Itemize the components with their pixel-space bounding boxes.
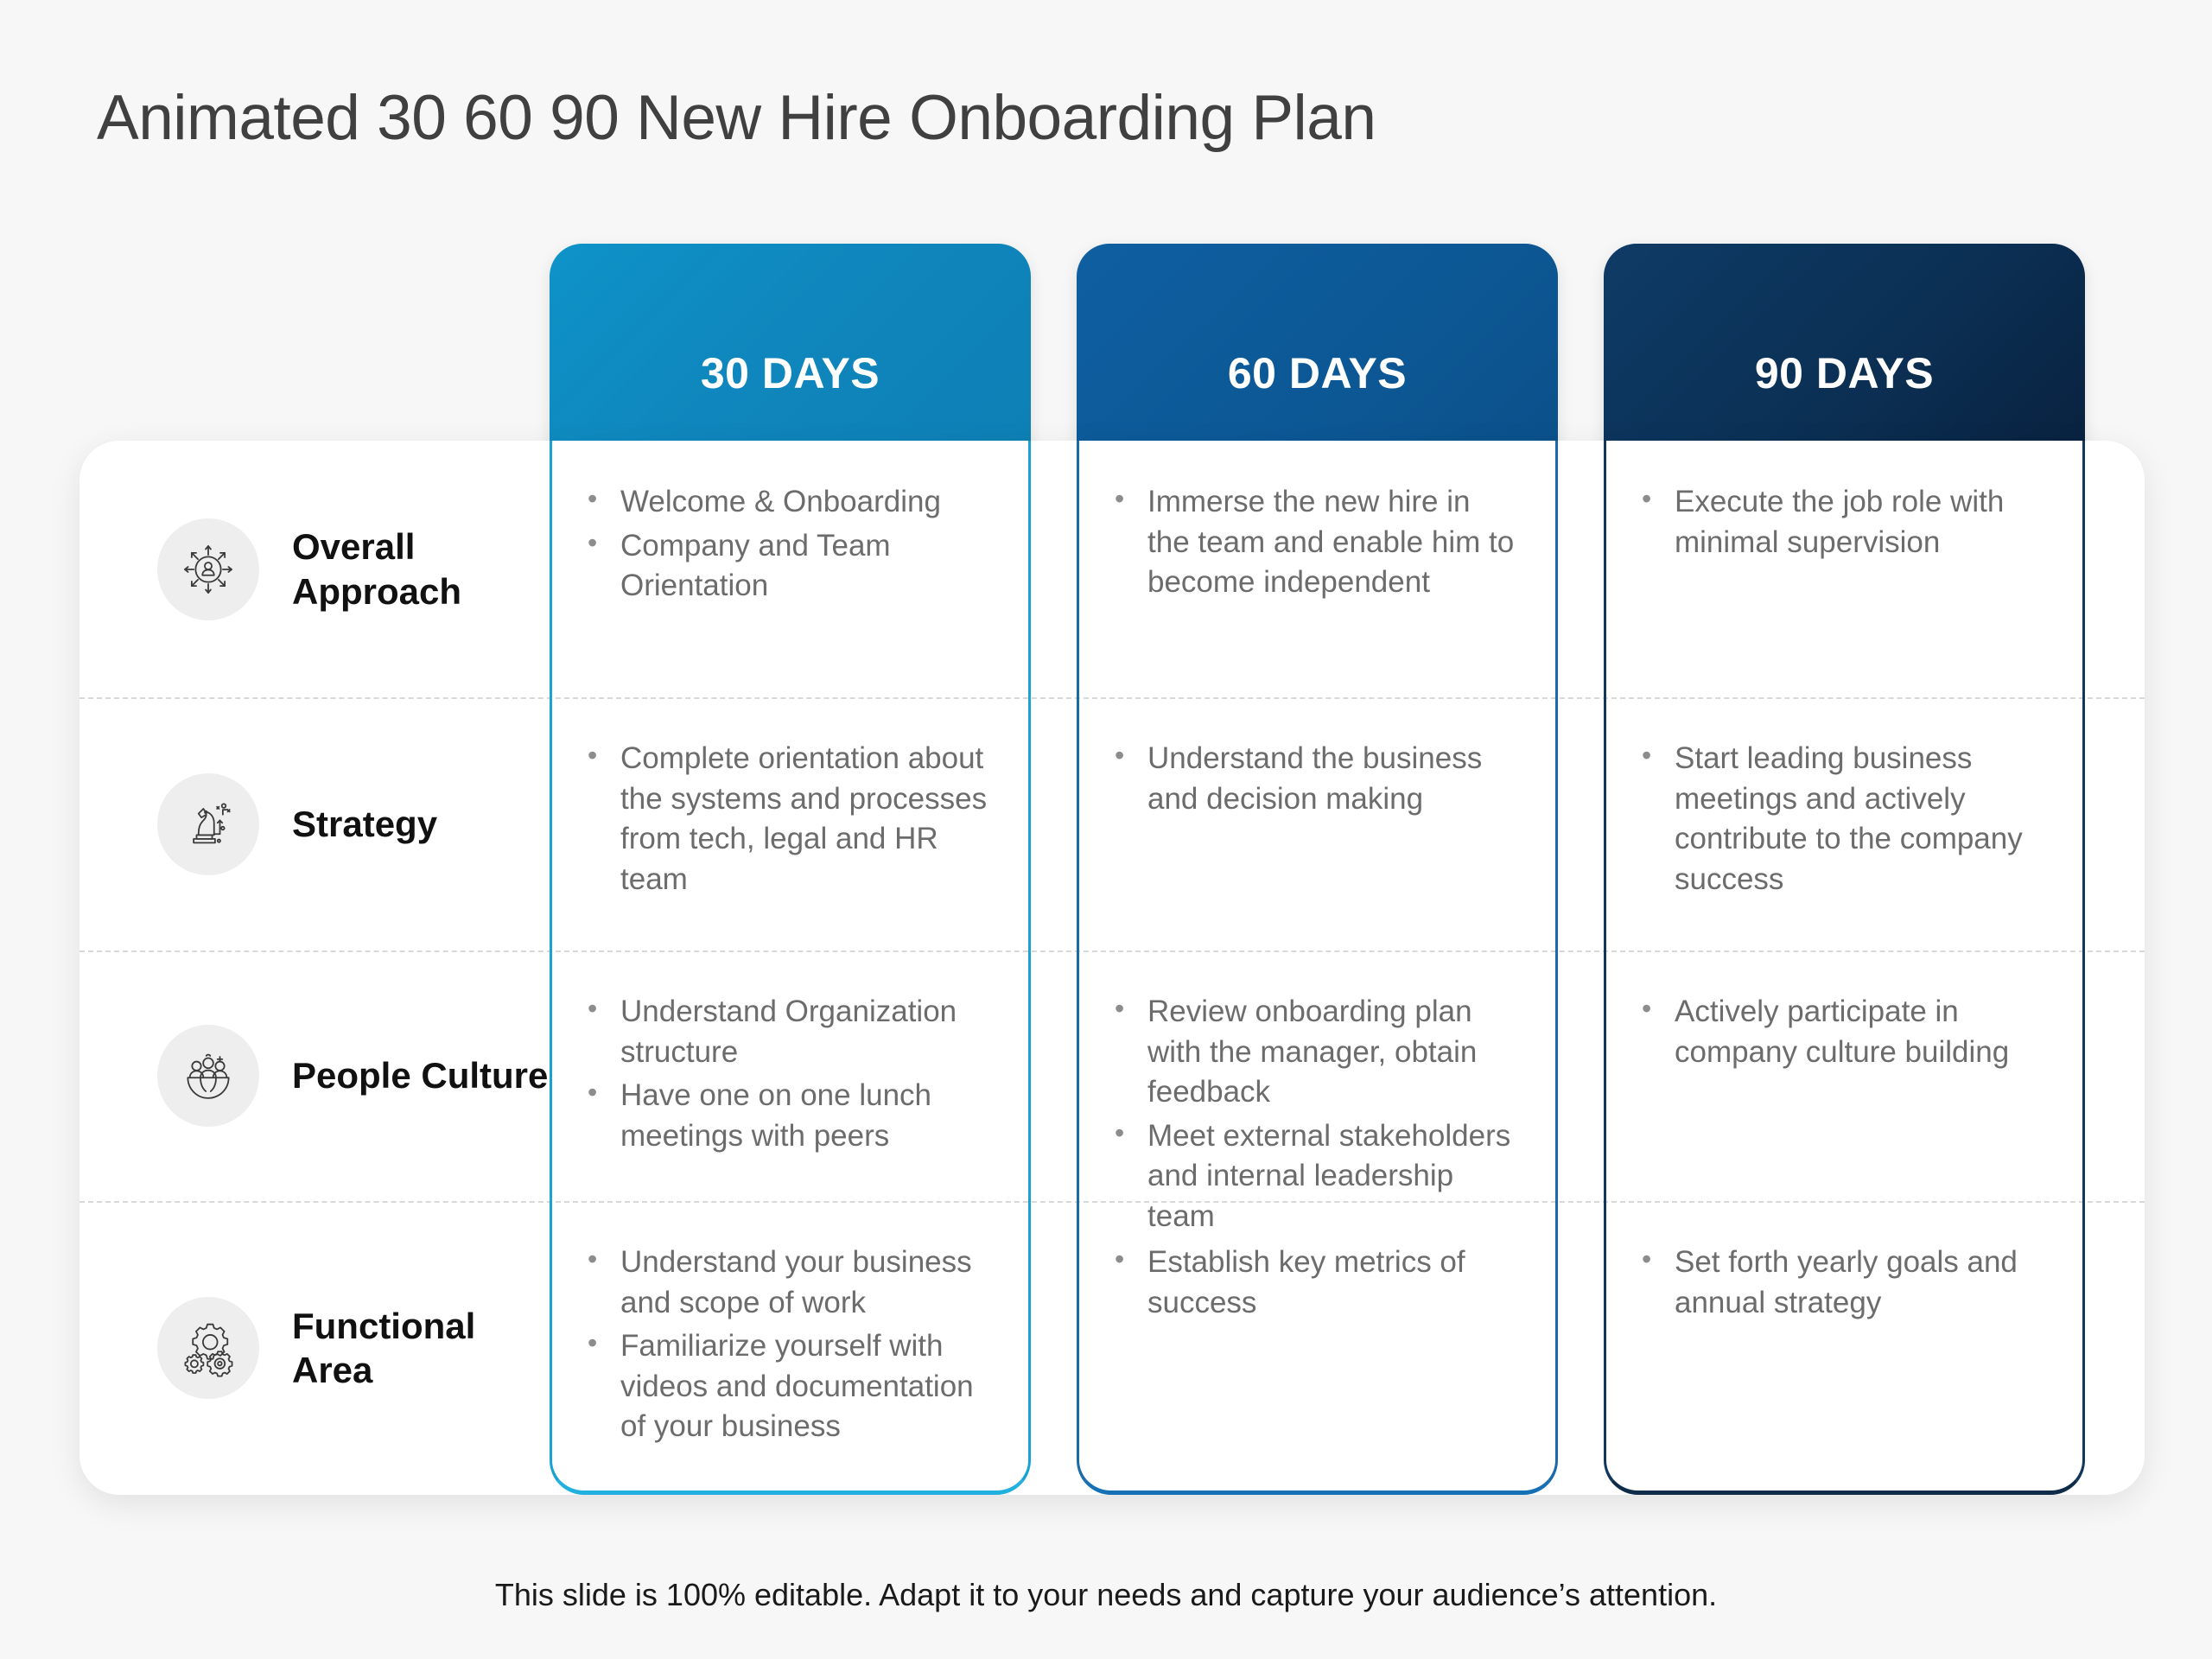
table-row: Strategy Complete orientation about the …	[79, 697, 2145, 950]
content-grid: Overall Approach Welcome & Onboarding Co…	[79, 441, 2145, 1495]
list-item: Start leading business meetings and acti…	[1633, 739, 2045, 899]
table-row: People Culture Understand Organization s…	[79, 950, 2145, 1201]
row-label-overall-approach: Overall Approach	[79, 441, 550, 697]
table-row: Functional Area Understand your business…	[79, 1201, 2145, 1495]
gears-icon	[157, 1297, 259, 1399]
cell-people-culture-90-days: Actively participate in company culture …	[1604, 950, 2085, 1201]
cell-functional-area-30-days: Understand your business and scope of wo…	[550, 1201, 1031, 1495]
person-network-icon	[157, 518, 259, 620]
column-header-label: 30 DAYS	[701, 348, 880, 398]
list-item: Execute the job role with minimal superv…	[1633, 482, 2045, 563]
list-item: Familiarize yourself with videos and doc…	[579, 1326, 991, 1447]
cell-strategy-60-days: Understand the business and decision mak…	[1077, 697, 1558, 950]
bullet-list: Establish key metrics of success	[1106, 1243, 1518, 1323]
table-row: Overall Approach Welcome & Onboarding Co…	[79, 441, 2145, 697]
bullet-list: Complete orientation about the systems a…	[579, 739, 991, 899]
list-item: Complete orientation about the systems a…	[579, 739, 991, 899]
cell-people-culture-60-days: Review onboarding plan with the manager,…	[1077, 950, 1558, 1201]
bullet-list: Understand your business and scope of wo…	[579, 1243, 991, 1447]
cell-functional-area-60-days: Establish key metrics of success	[1077, 1201, 1558, 1495]
list-item: Have one on one lunch meetings with peer…	[579, 1076, 991, 1156]
row-label-strategy: Strategy	[79, 697, 550, 950]
bullet-list: Execute the job role with minimal superv…	[1633, 482, 2045, 563]
bullet-list: Understand the business and decision mak…	[1106, 739, 1518, 819]
list-item: Immerse the new hire in the team and ena…	[1106, 482, 1518, 603]
slide-canvas: Animated 30 60 90 New Hire Onboarding Pl…	[0, 0, 2212, 1659]
bullet-list: Start leading business meetings and acti…	[1633, 739, 2045, 899]
bullet-list: Understand Organization structure Have o…	[579, 992, 991, 1156]
bullet-list: Set forth yearly goals and annual strate…	[1633, 1243, 2045, 1323]
list-item: Understand your business and scope of wo…	[579, 1243, 991, 1323]
list-item: Understand Organization structure	[579, 992, 991, 1072]
list-item: Welcome & Onboarding	[579, 482, 991, 523]
list-item: Understand the business and decision mak…	[1106, 739, 1518, 819]
people-group-icon	[157, 1025, 259, 1127]
cell-functional-area-90-days: Set forth yearly goals and annual strate…	[1604, 1201, 2085, 1495]
chess-knight-icon	[157, 773, 259, 875]
column-header-label: 90 DAYS	[1755, 348, 1934, 398]
cell-strategy-30-days: Complete orientation about the systems a…	[550, 697, 1031, 950]
cell-overall-approach-90-days: Execute the job role with minimal superv…	[1604, 441, 2085, 697]
bullet-list: Welcome & Onboarding Company and Team Or…	[579, 482, 991, 607]
row-label-functional-area: Functional Area	[79, 1201, 550, 1495]
list-item: Review onboarding plan with the manager,…	[1106, 992, 1518, 1113]
cell-strategy-90-days: Start leading business meetings and acti…	[1604, 697, 2085, 950]
cell-overall-approach-60-days: Immerse the new hire in the team and ena…	[1077, 441, 1558, 697]
list-item: Set forth yearly goals and annual strate…	[1633, 1243, 2045, 1323]
row-label-text: Overall Approach	[292, 524, 550, 613]
row-label-people-culture: People Culture	[79, 950, 550, 1201]
page-title: Animated 30 60 90 New Hire Onboarding Pl…	[97, 82, 1376, 154]
bullet-list: Immerse the new hire in the team and ena…	[1106, 482, 1518, 603]
row-label-text: Functional Area	[292, 1304, 550, 1392]
bullet-list: Review onboarding plan with the manager,…	[1106, 992, 1518, 1236]
column-header-label: 60 DAYS	[1228, 348, 1407, 398]
cell-overall-approach-30-days: Welcome & Onboarding Company and Team Or…	[550, 441, 1031, 697]
row-label-text: People Culture	[292, 1053, 548, 1097]
bullet-list: Actively participate in company culture …	[1633, 992, 2045, 1072]
list-item: Company and Team Orientation	[579, 526, 991, 607]
list-item: Establish key metrics of success	[1106, 1243, 1518, 1323]
cell-people-culture-30-days: Understand Organization structure Have o…	[550, 950, 1031, 1201]
slide-footer: This slide is 100% editable. Adapt it to…	[0, 1577, 2212, 1613]
list-item: Actively participate in company culture …	[1633, 992, 2045, 1072]
row-label-text: Strategy	[292, 802, 437, 846]
